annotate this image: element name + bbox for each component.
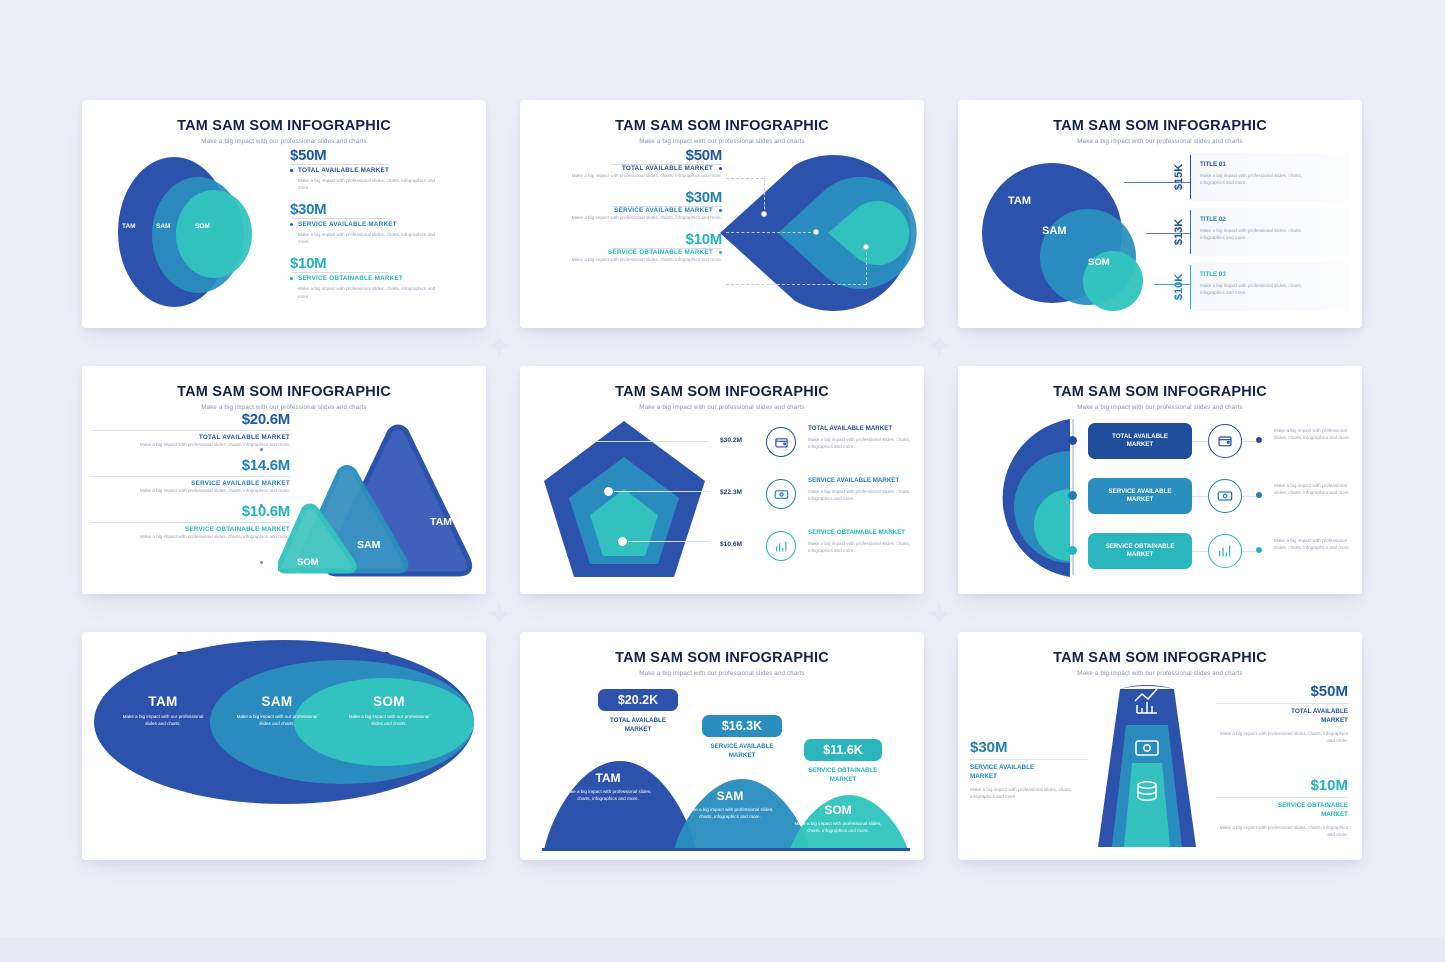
hill-body: Make a big impact with professional slid… <box>684 806 776 821</box>
slide-8-stage: $20.2K TOTAL AVAILABLE MARKET $16.3K SER… <box>520 677 924 852</box>
slide-1-metric-list: $50M TOTAL AVAILABLE MARKET Make a big i… <box>290 147 470 310</box>
slide-1-stage: TAM SAM SOM $50M TOTAL AVAILABLE MARKET … <box>82 145 486 320</box>
metric-label: TOTAL AVAILABLE MARKET <box>622 165 713 172</box>
page-subtitle: Make a big impact with our professional … <box>958 404 1362 411</box>
metric-amount: $20.6M <box>90 411 290 428</box>
badge-caption: SERVICE AVAILABLE MARKET <box>694 743 790 760</box>
amount-badge[interactable]: $11.6K <box>804 739 882 761</box>
divider <box>90 430 290 431</box>
row-body: Make a big impact with professional slid… <box>808 540 920 554</box>
row-title: TITLE 02 <box>1200 216 1226 223</box>
market-row[interactable]: $30.2M TOTAL AVAILABLE MARKET Make a big… <box>720 419 920 469</box>
page-subtitle: Make a big impact with our professional … <box>520 670 924 677</box>
pill-title-line1: TOTAL AVAILABLE <box>1112 433 1168 440</box>
metric-amount: $10M <box>532 231 722 248</box>
block-title-line2: MARKET <box>970 773 997 780</box>
page-title: TAM SAM SOM INFOGRAPHIC <box>82 118 486 134</box>
row-amount: $13K <box>1173 219 1185 245</box>
row-amount: $15K <box>1173 164 1185 190</box>
block-title-line1: TOTAL AVAILABLE <box>1291 708 1348 715</box>
market-block-left[interactable]: $30M SERVICE AVAILABLE MARKET Make a big… <box>970 739 1088 800</box>
divider <box>970 759 1088 760</box>
metric-item[interactable]: $30M SERVICE AVAILABLE MARKET Make a big… <box>290 201 470 245</box>
metric-amount: $50M <box>290 147 470 164</box>
slide-card-2[interactable]: TAM SAM SOM INFOGRAPHIC Make a big impac… <box>520 100 924 328</box>
axis-dot <box>1068 491 1077 500</box>
metric-body: Make a big impact with professional slid… <box>90 533 290 540</box>
page-title: TAM SAM SOM INFOGRAPHIC <box>958 118 1362 134</box>
page-subtitle: Make a big impact with our professional … <box>520 138 924 145</box>
venn-label-som: SOM <box>195 223 210 230</box>
metric-body: Make a big impact with professional slid… <box>90 487 290 494</box>
ellipse-cell-sam: SAM Make a big impact with our professio… <box>234 694 320 728</box>
title-row[interactable]: $13K TITLE 02 Make a big impact with pro… <box>1190 208 1350 256</box>
bullet-icon <box>719 209 722 212</box>
cell-body: Make a big impact with our professional … <box>346 713 432 728</box>
block-amount: $30M <box>970 739 1088 756</box>
row-body: Make a big impact with professional slid… <box>1274 427 1358 441</box>
venn-circles-diagram <box>980 147 1170 319</box>
slide-card-8[interactable]: TAM SAM SOM INFOGRAPHIC Make a big impac… <box>520 632 924 860</box>
slide-5-stage: $30.2M TOTAL AVAILABLE MARKET Make a big… <box>520 411 924 586</box>
arrow-connector <box>1124 182 1200 183</box>
metric-body: Make a big impact with professional slid… <box>298 177 448 191</box>
row-accent-bar <box>1190 155 1191 199</box>
metric-amount: $50M <box>532 147 722 164</box>
badge-caption: TOTAL AVAILABLE MARKET <box>590 717 686 734</box>
market-row[interactable]: $10.6M SERVICE OBTAINABLE MARKET Make a … <box>720 523 920 573</box>
endpoint-dot <box>1256 437 1262 443</box>
cell-name: SOM <box>346 694 432 709</box>
amount-badge[interactable]: $16.3K <box>702 715 782 737</box>
divider <box>1216 797 1348 798</box>
nested-fan-diagram <box>1082 681 1212 849</box>
row-body: Make a big impact with professional slid… <box>808 488 920 502</box>
endpoint-dot <box>1256 492 1262 498</box>
banknote-icon <box>1208 479 1242 513</box>
leader-drop <box>866 247 867 285</box>
endpoint-dot <box>1256 547 1262 553</box>
banknote-icon <box>766 479 796 509</box>
row-title: TITLE 03 <box>1200 271 1226 278</box>
leader-line <box>726 284 866 285</box>
link-line <box>1242 496 1256 497</box>
metric-amount: $30M <box>532 189 722 206</box>
bullet-icon <box>719 167 722 170</box>
slide-card-4[interactable]: TAM SAM SOM INFOGRAPHIC Make a big impac… <box>82 366 486 594</box>
link-line <box>1192 551 1208 552</box>
bullet-icon <box>290 223 293 226</box>
page-title: TAM SAM SOM INFOGRAPHIC <box>520 118 924 134</box>
caption-line2: MARKET <box>729 752 755 759</box>
leader-line <box>628 541 710 542</box>
row-body: Make a big impact with professional slid… <box>1274 482 1358 496</box>
market-pill[interactable]: SERVICE AVAILABLE MARKET <box>1088 478 1192 514</box>
metric-body: Make a big impact with professional slid… <box>532 214 722 221</box>
metric-body: Make a big impact with professional slid… <box>90 441 290 448</box>
block-title: TOTAL AVAILABLE MARKET <box>1216 708 1348 726</box>
divider <box>292 272 388 273</box>
slide-6-row-list: TOTAL AVAILABLE MARKET Make a big impact… <box>1056 417 1356 582</box>
slide-card-3[interactable]: TAM SAM SOM INFOGRAPHIC Make a big impac… <box>958 100 1362 328</box>
pentagon-node <box>582 437 591 446</box>
page-subtitle: Make a big impact with our professional … <box>82 138 486 145</box>
block-body: Make a big impact with professional slid… <box>1216 824 1348 839</box>
hill-name: SAM <box>684 789 776 803</box>
caption-line1: SERVICE OBTAINABLE <box>809 767 878 774</box>
metric-item[interactable]: $30M SERVICE AVAILABLE MARKET Make a big… <box>532 189 722 221</box>
hill-name: TAM <box>560 771 656 785</box>
leader-line <box>614 491 710 492</box>
caption-line2: MARKET <box>625 726 651 733</box>
hill-label-som: SOM Make a big impact with professional … <box>792 803 884 835</box>
slide-card-5[interactable]: TAM SAM SOM INFOGRAPHIC Make a big impac… <box>520 366 924 594</box>
page-background-mid <box>0 905 1445 937</box>
leader-line <box>726 232 816 233</box>
nested-ellipse-diagram <box>112 155 272 310</box>
metric-body: Make a big impact with professional slid… <box>532 172 722 179</box>
metric-amount: $10M <box>290 255 470 272</box>
leader-node <box>761 211 767 217</box>
block-title-line1: SERVICE AVAILABLE <box>970 764 1034 771</box>
divider <box>1216 703 1348 704</box>
block-title: SERVICE OBTAINABLE MARKET <box>1216 802 1348 820</box>
metric-item[interactable]: $10M SERVICE OBTAINABLE MARKET Make a bi… <box>290 255 470 299</box>
pentagon-node <box>604 487 613 496</box>
hill-label-tam: TAM Make a big impact with professional … <box>560 771 656 803</box>
slide-card-1[interactable]: TAM SAM SOM INFOGRAPHIC Make a big impac… <box>82 100 486 328</box>
amount-badge[interactable]: $20.2K <box>598 689 678 711</box>
venn-label-sam: SAM <box>1042 225 1066 237</box>
cell-name: SAM <box>234 694 320 709</box>
slide-6-stage: TOTAL AVAILABLE MARKET Make a big impact… <box>958 411 1362 586</box>
market-pill[interactable]: SERVICE OBTAINABLE MARKET <box>1088 533 1192 569</box>
pill-title-line1: SERVICE OBTAINABLE <box>1106 543 1175 550</box>
slide-card-6[interactable]: TAM SAM SOM INFOGRAPHIC Make a big impac… <box>958 366 1362 594</box>
hill-body: Make a big impact with professional slid… <box>792 820 884 835</box>
block-body: Make a big impact with professional slid… <box>1216 730 1348 745</box>
connector-dot <box>260 561 263 564</box>
caption-line1: TOTAL AVAILABLE <box>610 717 666 724</box>
market-row[interactable]: $22.3M SERVICE AVAILABLE MARKET Make a b… <box>720 471 920 521</box>
slide-5-row-list: $30.2M TOTAL AVAILABLE MARKET Make a big… <box>720 419 920 575</box>
metric-item[interactable]: $14.6M SERVICE AVAILABLE MARKET Make a b… <box>90 457 290 494</box>
slide-4-metric-list: $20.6M TOTAL AVAILABLE MARKET Make a big… <box>90 411 290 549</box>
slide-9-stage: $30M SERVICE AVAILABLE MARKET Make a big… <box>958 677 1362 852</box>
row-amount: $30.2M <box>720 437 742 444</box>
bar-chart-icon <box>1208 534 1242 568</box>
caption-line1: SERVICE AVAILABLE <box>710 743 773 750</box>
metric-label: SERVICE AVAILABLE MARKET <box>90 480 290 487</box>
page-title: TAM SAM SOM INFOGRAPHIC <box>520 650 924 666</box>
block-title-line1: SERVICE OBTAINABLE <box>1278 802 1348 809</box>
triangle-label-sam: SAM <box>357 539 380 551</box>
market-block-right-bottom[interactable]: $10M SERVICE OBTAINABLE MARKET Make a bi… <box>1216 777 1348 838</box>
row-body: Make a big impact with professional slid… <box>1200 172 1324 186</box>
row-body: Make a big impact with professional slid… <box>808 436 920 450</box>
row-amount: $10.6M <box>720 541 742 548</box>
hill-name: SOM <box>792 803 884 817</box>
metric-item[interactable]: $20.6M TOTAL AVAILABLE MARKET Make a big… <box>90 411 290 448</box>
bar-chart-icon <box>766 531 796 561</box>
bullet-icon <box>290 277 293 280</box>
pentagon-node <box>618 537 627 546</box>
link-line <box>1242 551 1256 552</box>
teardrop-diagram <box>700 153 920 313</box>
block-title: SERVICE AVAILABLE MARKET <box>970 764 1088 782</box>
title-row[interactable]: $10K TITLE 03 Make a big impact with pro… <box>1190 263 1350 311</box>
axis-dot <box>1068 546 1077 555</box>
bullet-icon <box>719 251 722 254</box>
row-title: TOTAL AVAILABLE MARKET <box>808 425 892 432</box>
metric-label: TOTAL AVAILABLE MARKET <box>298 167 389 174</box>
page-background-lower <box>0 937 1445 962</box>
divider <box>292 218 388 219</box>
leader-line <box>592 441 710 442</box>
link-line <box>1242 441 1256 442</box>
wallet-icon <box>1208 424 1242 458</box>
link-line <box>1192 441 1208 442</box>
metric-label: SERVICE AVAILABLE MARKET <box>614 207 713 214</box>
metric-label: TOTAL AVAILABLE MARKET <box>90 434 290 441</box>
slide-3-row-list: $15K TITLE 01 Make a big impact with pro… <box>1190 153 1350 318</box>
venn-label-tam: TAM <box>122 223 136 230</box>
block-amount: $10M <box>1216 777 1348 794</box>
cell-name: TAM <box>120 694 206 709</box>
slide-2-stage: $50M TOTAL AVAILABLE MARKET Make a big i… <box>520 145 924 320</box>
link-line <box>1192 496 1208 497</box>
hill-body: Make a big impact with professional slid… <box>560 788 656 803</box>
row-body: Make a big impact with professional slid… <box>1200 227 1324 241</box>
cell-body: Make a big impact with our professional … <box>120 713 206 728</box>
divider <box>90 476 290 477</box>
metric-body: Make a big impact with professional slid… <box>298 285 448 299</box>
bullet-icon <box>290 169 293 172</box>
market-row[interactable]: SERVICE AVAILABLE MARKET Make a big impa… <box>1056 472 1356 520</box>
ellipse-cell-som: SOM Make a big impact with our professio… <box>346 694 432 728</box>
leader-line <box>726 178 764 179</box>
divider <box>292 164 388 165</box>
page-title: TAM SAM SOM INFOGRAPHIC <box>958 650 1362 666</box>
page-title: TAM SAM SOM INFOGRAPHIC <box>520 384 924 400</box>
block-body: Make a big impact with professional slid… <box>970 786 1088 801</box>
metric-amount: $14.6M <box>90 457 290 474</box>
page-title: TAM SAM SOM INFOGRAPHIC <box>958 384 1362 400</box>
metric-label: SERVICE OBTAINABLE MARKET <box>90 526 290 533</box>
triangle-label-tam: TAM <box>430 516 452 528</box>
title-row[interactable]: $15K TITLE 01 Make a big impact with pro… <box>1190 153 1350 201</box>
metric-item[interactable]: $10.6M SERVICE OBTAINABLE MARKET Make a … <box>90 503 290 540</box>
market-row[interactable]: TOTAL AVAILABLE MARKET Make a big impact… <box>1056 417 1356 465</box>
pill-title-line1: SERVICE AVAILABLE <box>1108 488 1171 495</box>
venn-label-som: SOM <box>1088 257 1110 268</box>
leader-node <box>813 229 819 235</box>
venn-label-tam: TAM <box>1008 195 1031 207</box>
metric-body: Make a big impact with professional slid… <box>532 256 722 263</box>
metric-body: Make a big impact with professional slid… <box>298 231 448 245</box>
row-title: TITLE 01 <box>1200 161 1226 168</box>
row-title: SERVICE AVAILABLE MARKET <box>808 477 899 484</box>
wallet-icon <box>766 427 796 457</box>
row-amount: $10K <box>1173 274 1185 300</box>
slide-7-stage: TAM Make a big impact with our professio… <box>82 632 486 807</box>
caption-line2: MARKET <box>830 776 856 783</box>
block-amount: $50M <box>1216 683 1348 700</box>
metric-item[interactable]: $50M TOTAL AVAILABLE MARKET Make a big i… <box>290 147 470 191</box>
page-subtitle: Make a big impact with our professional … <box>82 404 486 411</box>
pill-title-line2: MARKET <box>1127 551 1153 558</box>
metric-item[interactable]: $50M TOTAL AVAILABLE MARKET Make a big i… <box>532 147 722 179</box>
row-amount: $22.3M <box>720 489 742 496</box>
page-subtitle: Make a big impact with our professional … <box>958 670 1362 677</box>
slide-2-metric-list: $50M TOTAL AVAILABLE MARKET Make a big i… <box>532 147 722 273</box>
row-body: Make a big impact with professional slid… <box>1200 282 1324 296</box>
cell-body: Make a big impact with our professional … <box>234 713 320 728</box>
slide-3-stage: TAM SAM SOM $15K TITLE 01 Make a big imp… <box>958 145 1362 320</box>
axis-dot <box>1068 436 1077 445</box>
metric-label: SERVICE AVAILABLE MARKET <box>298 221 397 228</box>
slide-card-9[interactable]: TAM SAM SOM INFOGRAPHIC Make a big impac… <box>958 632 1362 860</box>
block-title-line2: MARKET <box>1321 717 1348 724</box>
page-subtitle: Make a big impact with our professional … <box>958 138 1362 145</box>
pill-title-line2: MARKET <box>1127 441 1153 448</box>
badge-caption: SERVICE OBTAINABLE MARKET <box>794 767 892 784</box>
row-title: SERVICE OBTAINABLE MARKET <box>808 529 905 536</box>
venn-label-sam: SAM <box>156 223 170 230</box>
metric-amount: $30M <box>290 201 470 218</box>
triangle-label-som: SOM <box>297 557 319 568</box>
hill-label-sam: SAM Make a big impact with professional … <box>684 789 776 821</box>
row-body: Make a big impact with professional slid… <box>1274 537 1358 551</box>
slide-4-stage: $20.6M TOTAL AVAILABLE MARKET Make a big… <box>82 411 486 586</box>
metric-label: SERVICE OBTAINABLE MARKET <box>298 275 403 282</box>
page-subtitle: Make a big impact with our professional … <box>520 404 924 411</box>
metric-label: SERVICE OBTAINABLE MARKET <box>608 249 713 256</box>
connector-dot <box>260 504 263 507</box>
block-title-line2: MARKET <box>1321 811 1348 818</box>
market-pill[interactable]: TOTAL AVAILABLE MARKET <box>1088 423 1192 459</box>
market-row[interactable]: SERVICE OBTAINABLE MARKET Make a big imp… <box>1056 527 1356 575</box>
pill-title-line2: MARKET <box>1127 496 1153 503</box>
divider <box>90 522 290 523</box>
leader-drop <box>764 178 765 214</box>
page-title: TAM SAM SOM INFOGRAPHIC <box>82 384 486 400</box>
market-block-right-top[interactable]: $50M TOTAL AVAILABLE MARKET Make a big i… <box>1216 683 1348 744</box>
metric-item[interactable]: $10M SERVICE OBTAINABLE MARKET Make a bi… <box>532 231 722 263</box>
slide-card-7[interactable]: TAM SAM SOM INFOGRAPHIC Make a big impac… <box>82 632 486 860</box>
leader-node <box>863 244 869 250</box>
row-accent-bar <box>1190 210 1191 254</box>
ellipse-cell-tam: TAM Make a big impact with our professio… <box>120 694 206 728</box>
connector-dot <box>260 448 263 451</box>
row-accent-bar <box>1190 265 1191 309</box>
